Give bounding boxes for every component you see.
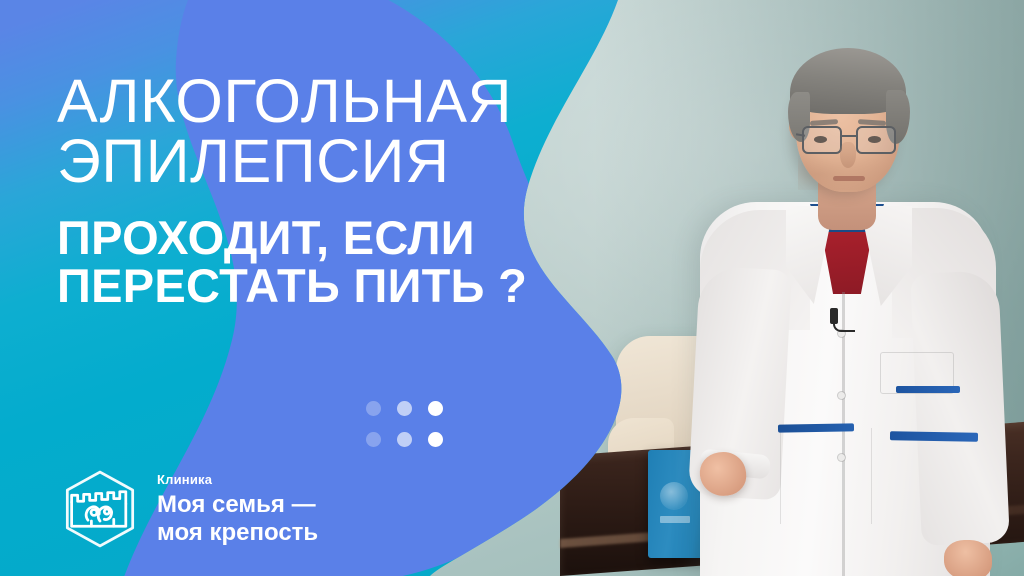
logo-name-line-2: моя крепость [157, 519, 318, 547]
headline-line-2: эпилепсия [57, 132, 577, 192]
coat-trim-left [778, 423, 854, 432]
dot-grid-icon [366, 401, 446, 451]
decor-dot [428, 432, 443, 447]
logo-name-line-1: Моя семья — [157, 491, 318, 519]
hand-right [944, 540, 992, 576]
decor-dot [366, 432, 381, 447]
clinic-logo[interactable]: Клиника Моя семья — моя крепость [57, 466, 318, 552]
headline-line-1: Алкогольная [57, 72, 577, 132]
microphone-wire [833, 322, 855, 332]
coat-pocket-left [780, 428, 872, 524]
lens-right [856, 126, 896, 154]
decor-dot [428, 401, 443, 416]
video-thumbnail: Алкогольная эпилепсия Проходит, если Пер… [0, 0, 1024, 576]
coat-button [838, 392, 845, 399]
coat-trim-right [890, 431, 978, 442]
fortress-hexagon-icon [57, 466, 143, 552]
nose [840, 142, 856, 168]
glasses-bridge [842, 135, 858, 137]
logo-text-block: Клиника Моя семья — моя крепость [157, 472, 318, 547]
logo-kicker: Клиника [157, 472, 318, 487]
headline-block: Алкогольная эпилепсия Проходит, если Пер… [57, 72, 577, 311]
mouth [833, 176, 865, 181]
subheadline-line-1: Проходит, если [57, 214, 577, 263]
coat-sleeve-right [910, 270, 1010, 546]
decor-dot [366, 401, 381, 416]
subheadline-line-2: Перестать пить ? [57, 262, 577, 311]
lens-left [802, 126, 842, 154]
decor-dot [397, 432, 412, 447]
decor-dot [397, 401, 412, 416]
coat-trim-chest [896, 386, 960, 393]
